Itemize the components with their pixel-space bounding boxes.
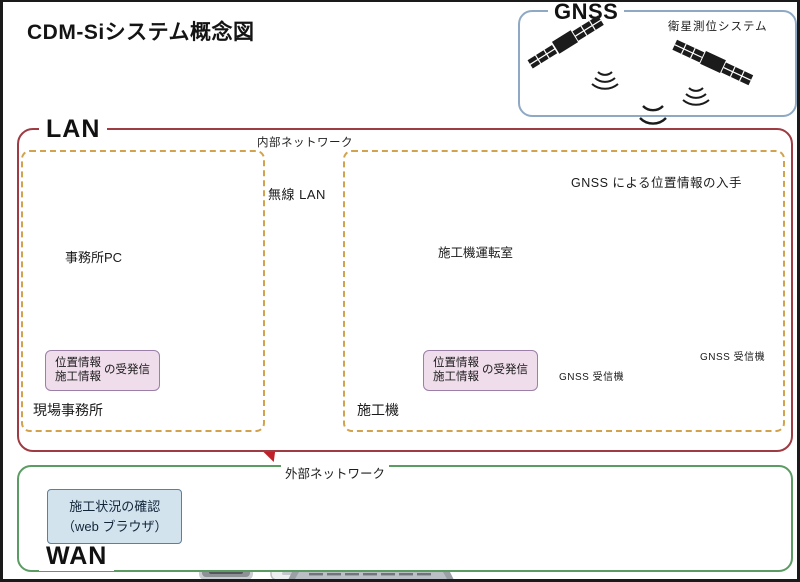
gnss-receiver-label-1: GNSS 受信機 (559, 368, 624, 383)
gnss-acquire-label: GNSS による位置情報の入手 (571, 172, 742, 191)
office-callout: 位置情報 施工情報 の受発信 (45, 350, 160, 391)
gnss-panel-label: GNSS (548, 0, 624, 25)
wan-callout-line1: 施工状況の確認 (62, 497, 167, 517)
cabin-label: 施工機運転室 (438, 242, 513, 261)
external-network-label: 外部ネットワーク (281, 463, 389, 482)
gnss-subtitle: 衛星測位システム (668, 18, 768, 34)
machine-group-caption: 施工機 (353, 400, 403, 420)
wan-callout-line2: （web ブラウザ） (62, 517, 167, 537)
office-callout-line1: 位置情報 (55, 356, 101, 370)
lan-panel-label: LAN (39, 115, 107, 144)
gnss-receiver-label-2: GNSS 受信機 (700, 348, 765, 363)
wireless-lan-label: 無線 LAN (268, 184, 326, 203)
diagram-canvas: CDM-Siシステム概念図 GNSS 衛星測位システム (0, 0, 800, 582)
machine-network-group (343, 150, 785, 432)
wan-callout: 施工状況の確認 （web ブラウザ） (47, 489, 182, 544)
machine-callout: 位置情報 施工情報 の受発信 (423, 350, 538, 391)
page-title: CDM-Siシステム概念図 (27, 16, 255, 46)
inner-network-label: 内部ネットワーク (253, 134, 357, 150)
machine-callout-suffix: の受発信 (482, 363, 528, 377)
office-group-caption: 現場事務所 (29, 400, 107, 420)
machine-callout-line2: 施工情報 (433, 370, 479, 384)
wan-panel-label: WAN (39, 542, 114, 571)
machine-callout-line1: 位置情報 (433, 356, 479, 370)
office-pc-label: 事務所PC (65, 247, 122, 266)
office-callout-line2: 施工情報 (55, 370, 101, 384)
office-callout-suffix: の受発信 (104, 363, 150, 377)
